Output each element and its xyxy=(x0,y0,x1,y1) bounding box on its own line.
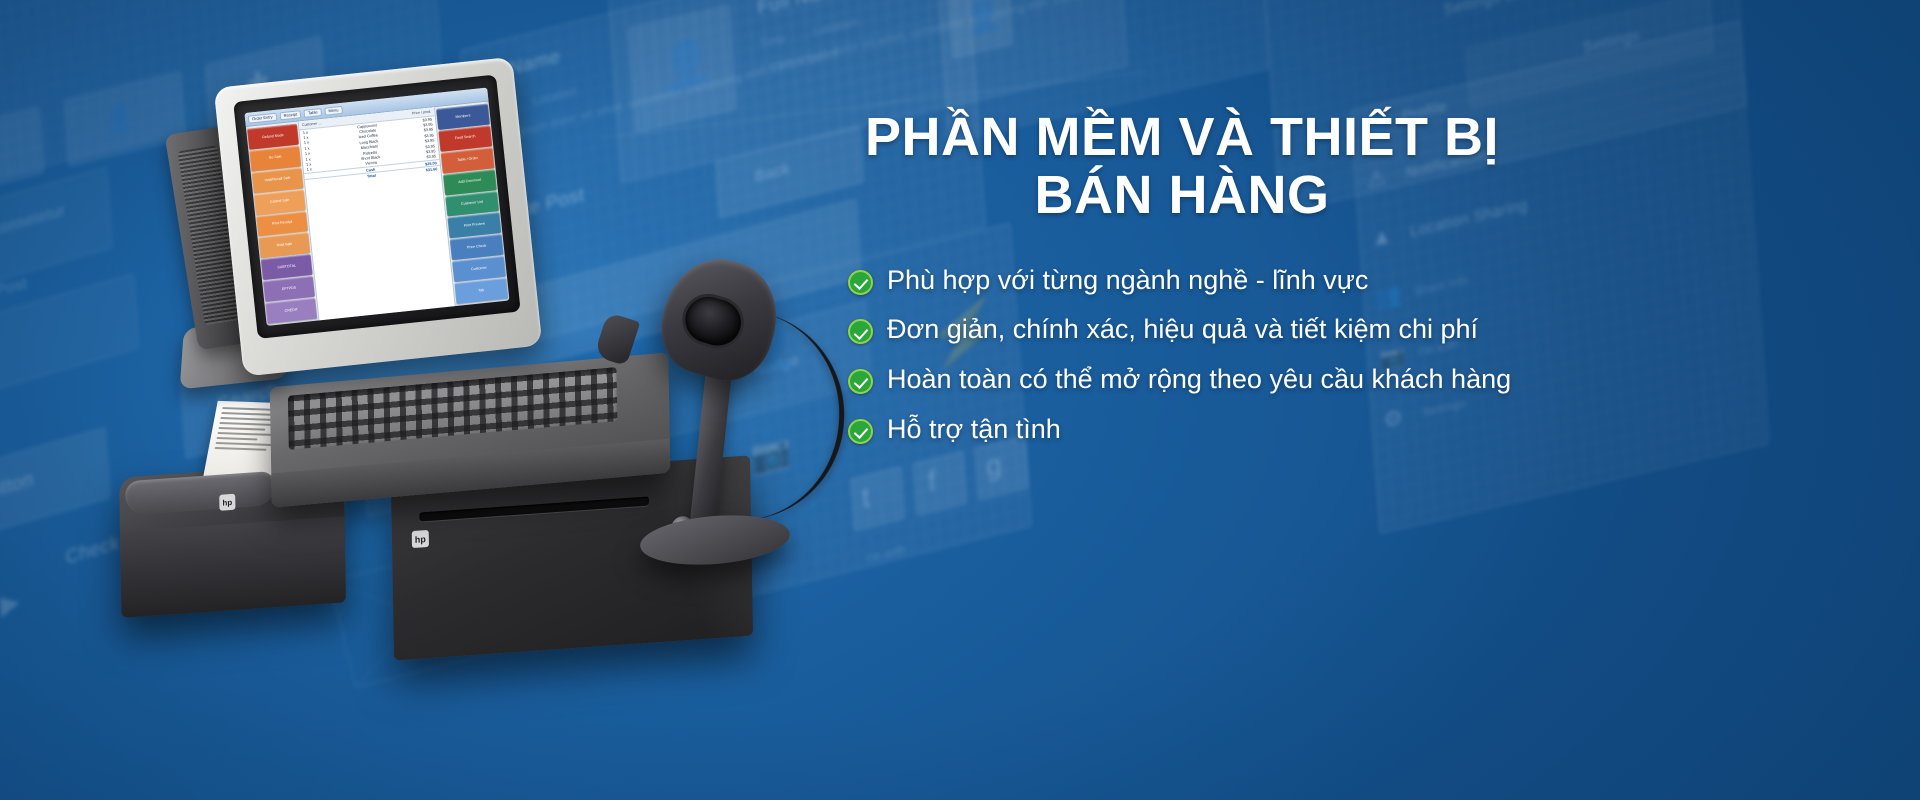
scanner-stand-base xyxy=(639,511,790,570)
order-header-customer: Customer ... xyxy=(302,121,322,127)
feature-text: Hoàn toàn có thể mở rộng theo yêu cầu kh… xyxy=(887,362,1522,398)
order-price: $31.60 xyxy=(426,167,438,172)
brand-logo: hp xyxy=(219,494,235,511)
feature-text: Đơn giản, chính xác, hiệu quả và tiết ki… xyxy=(887,312,1522,348)
check-circle-icon xyxy=(848,369,873,394)
wireframe-label: Button xyxy=(0,468,34,506)
wireframe-label: Create Post xyxy=(0,274,28,312)
check-circle-icon xyxy=(848,270,873,295)
tab-menu[interactable]: Menu xyxy=(324,105,343,115)
triangle-play-icon: ▶ xyxy=(0,587,20,619)
tab-receipt[interactable]: Receipt xyxy=(279,110,301,120)
check-circle-icon xyxy=(848,419,873,444)
list-item: Hỗ trợ tận tình xyxy=(848,412,1522,448)
headline-line-1: PHẦN MỀM VÀ THIẾT BỊ xyxy=(865,107,1499,167)
wireframe-label: Time xyxy=(760,32,786,50)
printer-lid xyxy=(125,471,275,516)
wireframe-body-text: Lorem ipsum dolor sit amet, consetetur s… xyxy=(761,0,1121,75)
feature-list: Phù hợp với từng ngành nghề - lĩnh vực Đ… xyxy=(842,263,1522,448)
scanner-stand-stem xyxy=(689,355,734,537)
tab-order-entry[interactable]: Order Entry xyxy=(248,112,277,123)
pos-hardware-photo: hp hp Order xyxy=(110,70,790,690)
pos-button-credit[interactable]: CREDIT xyxy=(265,298,317,324)
wireframe-label: Lorem ipsum dolor sit amet, consetetur xyxy=(0,201,66,295)
receipt-line xyxy=(217,432,276,436)
wireframe-label: Full Name xyxy=(757,0,847,20)
list-item: Đơn giản, chính xác, hiệu quả và tiết ki… xyxy=(848,312,1522,348)
check-circle-icon xyxy=(848,319,873,344)
order-qty xyxy=(308,180,317,185)
social-tile xyxy=(851,466,905,531)
pos-main-area: Refund Mode No Sale Void/Recall Sale Can… xyxy=(246,101,510,325)
wireframe-label: Settings xyxy=(1582,27,1640,57)
pos-touch-monitor: Order Entry Receipt Table Menu Refund Mo… xyxy=(214,54,577,417)
wireframe-tile xyxy=(0,106,44,202)
avatar-placeholder xyxy=(948,0,1013,58)
twitter-icon: t xyxy=(861,483,871,513)
order-header-price: Price / prod. xyxy=(412,110,432,116)
tab-table[interactable]: Table xyxy=(304,108,322,118)
page-title: PHẦN MỀM VÀ THIẾT BỊ BÁN HÀNG xyxy=(842,108,1522,225)
receipt-line xyxy=(215,447,267,451)
brand-logo: hp xyxy=(412,530,429,548)
receipt-line xyxy=(220,417,273,421)
receipt-line xyxy=(216,437,257,440)
list-item: Hoàn toàn có thể mở rộng theo yêu cầu kh… xyxy=(848,362,1522,398)
receipt-line xyxy=(218,427,265,431)
wireframe-sheet xyxy=(0,166,113,341)
headline-line-2: BÁN HÀNG xyxy=(842,166,1522,224)
printer-body xyxy=(120,516,346,618)
pos-order-rows: 1 xCappuccino$3.95 1 xChocolate$3.95 1 x… xyxy=(300,116,455,320)
scanner-lens xyxy=(680,291,747,351)
wireframe-label: Settings Default xyxy=(1443,0,1555,19)
promo-banner: 👥 👤 ✚ Time Create Post Lorem ipsum dolor… xyxy=(0,0,1920,800)
wireframe-button xyxy=(0,427,110,556)
pos-order-list: Customer ... Price / prod. 1 xCappuccino… xyxy=(298,107,456,320)
list-item: Phù hợp với từng ngành nghề - lĩnh vực xyxy=(848,263,1522,299)
user-icon: 👤 xyxy=(964,0,1003,36)
wireframe-row xyxy=(1466,0,1714,109)
wireframe-label: Location xyxy=(813,16,858,38)
feature-text: Phù hợp với từng ngành nghề - lĩnh vực xyxy=(887,263,1522,299)
feature-text: Hỗ trợ tận tình xyxy=(887,412,1522,448)
wireframe-label: I'm with xyxy=(866,544,907,566)
facebook-icon: f xyxy=(927,466,937,496)
pos-screen[interactable]: Order Entry Receipt Table Menu Refund Mo… xyxy=(244,88,509,326)
monitor-bezel: Order Entry Receipt Table Menu Refund Mo… xyxy=(233,75,520,339)
pos-button-tab[interactable]: Tab xyxy=(454,278,508,304)
banner-copy: PHẦN MỀM VÀ THIẾT BỊ BÁN HÀNG Phù hợp vớ… xyxy=(842,108,1522,461)
barcode-scanner xyxy=(610,260,800,600)
monitor-body: Order Entry Receipt Table Menu Refund Mo… xyxy=(214,57,543,377)
